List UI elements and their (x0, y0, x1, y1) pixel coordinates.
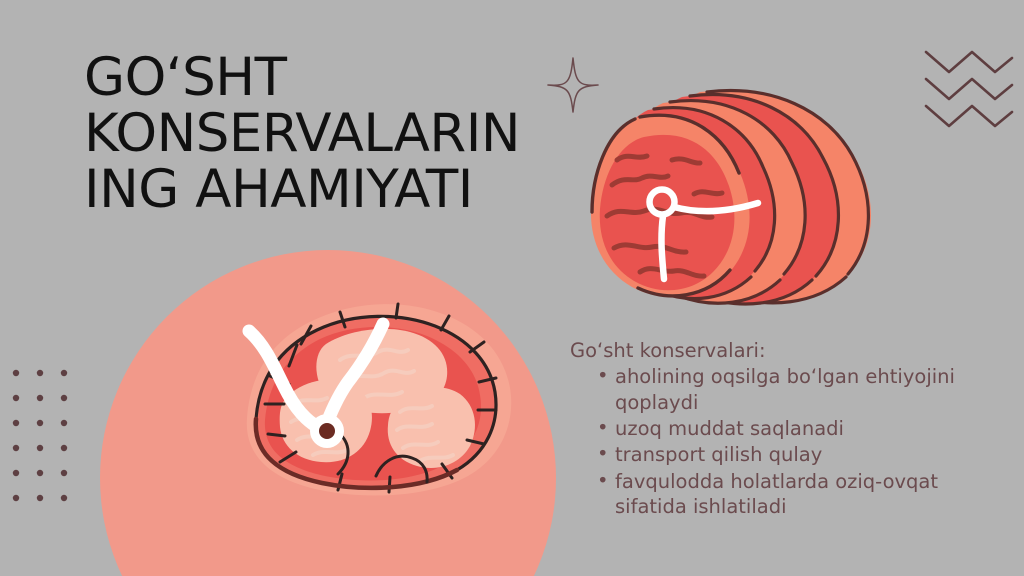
bullet-glyph: • (597, 441, 609, 466)
list-item: • transport qilish qulay (597, 442, 960, 467)
list-item-label: uzoq muddat saqlanadi (615, 417, 844, 440)
bullet-glyph: • (597, 363, 609, 388)
list-item-label: transport qilish qulay (615, 443, 822, 466)
benefits-list: • aholining oqsilga bo‘lgan ehtiyojini q… (570, 364, 960, 519)
body-text-block: Go‘sht konservalari: • aholining oqsilga… (570, 338, 960, 520)
bullet-glyph: • (597, 468, 609, 493)
body-lead: Go‘sht konservalari: (570, 338, 960, 363)
list-item-label: favqulodda holatlarda oziq-ovqat sifatid… (615, 470, 938, 518)
list-item: • aholining oqsilga bo‘lgan ehtiyojini q… (597, 364, 960, 415)
bone-marrow (319, 423, 335, 439)
bullet-glyph: • (597, 415, 609, 440)
page-title: GO‘SHT KONSERVALARIN ING AHAMIYATI (84, 50, 554, 219)
presentation-slide: GO‘SHT KONSERVALARIN ING AHAMIYATI Go‘sh… (0, 0, 1024, 576)
list-item: • uzoq muddat saqlanadi (597, 416, 960, 441)
list-item-label: aholining oqsilga bo‘lgan ehtiyojini qop… (615, 365, 955, 413)
list-item: • favqulodda holatlarda oziq-ovqat sifat… (597, 469, 960, 520)
